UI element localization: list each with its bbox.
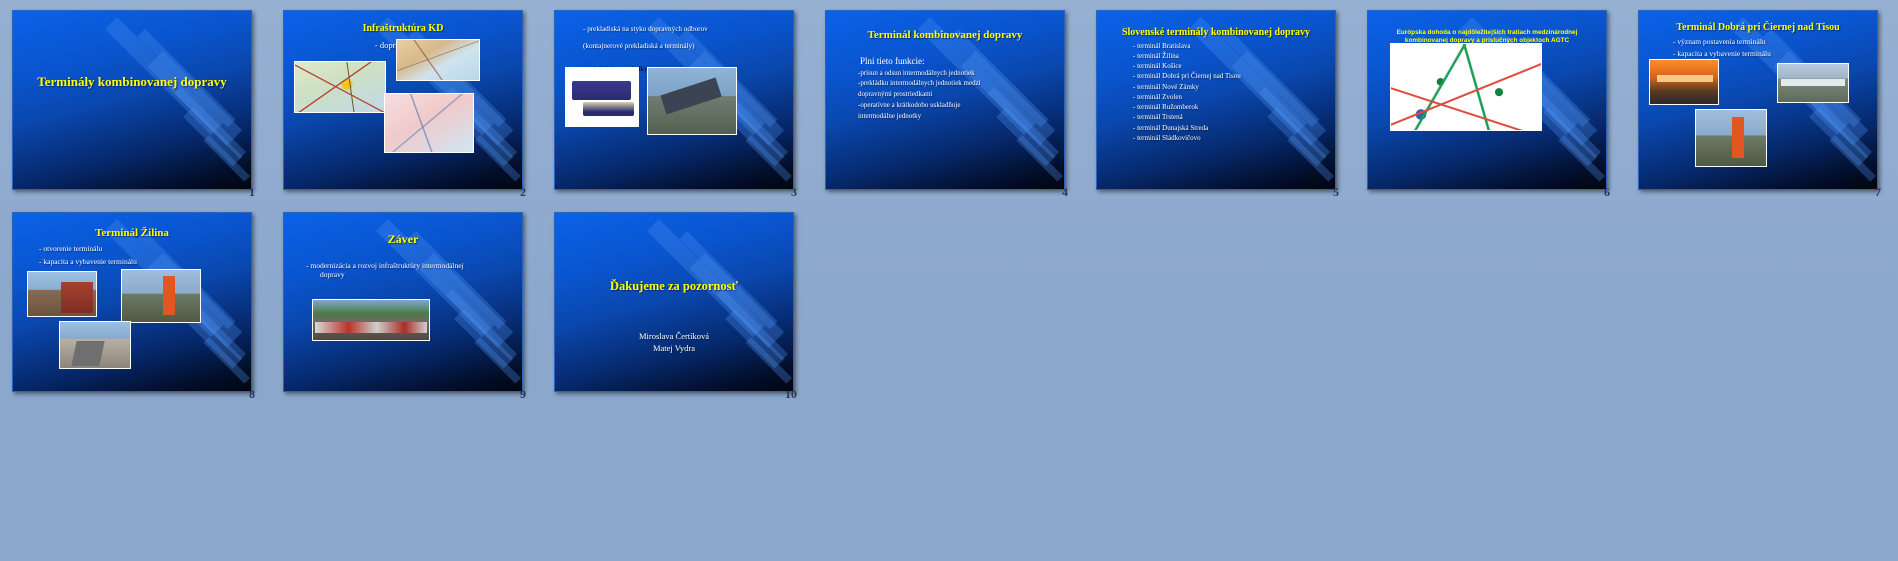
slide-title: Terminál kombinovanej dopravy (834, 29, 1056, 42)
map-slovakia-corridors-image (294, 61, 386, 113)
slide-bullet: - kapacita a vybavenie terminálu (1673, 49, 1869, 58)
slide-cell-10[interactable]: Ďakujeme za pozornosť Miroslava Čertíkov… (542, 202, 813, 404)
slide-bullet: -prekládku intermodálnych jednotiek medz… (858, 79, 1056, 88)
slide-cell-2[interactable]: Infraštruktúra KD - dopravné cesty 2 (271, 0, 542, 202)
slide-bullet: -operatívne a krátkodobo uskladňuje (858, 101, 1056, 110)
slide-title: Terminál Dobrá pri Čiernej nad Tisou (1647, 22, 1869, 34)
photo-terminal-night-image (1649, 59, 1719, 105)
slide-title: Terminály kombinovanej dopravy (21, 75, 243, 90)
map-europe-physical-image (396, 39, 480, 81)
slide-thumbnail-3[interactable]: - prekladiská na styku dopravných odboro… (554, 10, 794, 190)
slide-lead-text: Plní tieto funkcie: (860, 56, 1056, 66)
author-list: Miroslava Čertíková Matej Vydra (563, 331, 785, 355)
slide-cell-5[interactable]: Slovenské terminály kombinovanej dopravy… (1084, 0, 1355, 202)
slide-number: 2 (520, 185, 526, 200)
slide-title: Infraštruktúra KD (292, 23, 514, 35)
slide-cell-4[interactable]: Terminál kombinovanej dopravy Plní tieto… (813, 0, 1084, 202)
slide-number: 10 (785, 387, 797, 402)
slide-title-line-1: Európska dohoda o najdôležitejších trati… (1376, 29, 1598, 37)
slide-thumbnail-6[interactable]: Európska dohoda o najdôležitejších trati… (1367, 10, 1607, 190)
slide-number: 1 (249, 185, 255, 200)
slide-title: Terminál Žilina (21, 227, 243, 240)
slide-number: 5 (1333, 185, 1339, 200)
slide-bullet: intermodálne jednotky (858, 112, 1056, 121)
slide-number: 4 (1062, 185, 1068, 200)
photo-container-stack-image (121, 269, 201, 323)
slide-bullet: - modernizácia a rozvoj infraštruktúry i… (306, 261, 514, 270)
slide-bullet: - terminál Dobrá pri Čiernej nad Tisou (1133, 72, 1327, 81)
slide-grid: Terminály kombinovanej dopravy 1 Infrašt… (0, 0, 1898, 404)
slide-bullet: dopravy (320, 270, 514, 279)
slide-cell-9[interactable]: Záver - modernizácia a rozvoj infraštruk… (271, 202, 542, 404)
slide-thumbnail-10[interactable]: Ďakujeme za pozornosť Miroslava Čertíkov… (554, 212, 794, 392)
slide-bullet: - terminál Žilina (1133, 52, 1327, 61)
slide-body-line-1: - prekladiská na styku dopravných odboro… (583, 25, 781, 34)
photo-container-yard-image (27, 271, 97, 317)
slide-thumbnail-1[interactable]: Terminály kombinovanej dopravy (12, 10, 252, 190)
slide-bullet: - terminál Trstená (1133, 113, 1327, 122)
author-name: Miroslava Čertíková (563, 331, 785, 343)
slide-thumbnail-9[interactable]: Záver - modernizácia a rozvoj infraštruk… (283, 212, 523, 392)
author-name: Matej Vydra (563, 343, 785, 355)
map-agtc-network-image (1390, 43, 1542, 131)
slide-bullet: - kapacita a vybavenie terminálu (39, 257, 243, 266)
slide-number: 6 (1604, 185, 1610, 200)
slide-number: 7 (1875, 185, 1881, 200)
photo-terminal-road-image (59, 321, 131, 369)
slide-cell-7[interactable]: Terminál Dobrá pri Čiernej nad Tisou - v… (1626, 0, 1897, 202)
slide-cell-6[interactable]: Európska dohoda o najdôležitejších trati… (1355, 0, 1626, 202)
slide-thumbnail-8[interactable]: Terminál Žilina - otvorenie terminálu - … (12, 212, 252, 392)
slide-bullet: - terminál Ružomberok (1133, 103, 1327, 112)
slide-cell-8[interactable]: Terminál Žilina - otvorenie terminálu - … (0, 202, 271, 404)
slide-thumbnail-5[interactable]: Slovenské terminály kombinovanej dopravy… (1096, 10, 1336, 190)
slide-number: 8 (249, 387, 255, 402)
slide-title: Záver (292, 233, 514, 247)
slide-bullet: - terminál Bratislava (1133, 42, 1327, 51)
slide-bullet: - terminál Zvolen (1133, 93, 1327, 102)
photo-swap-body-wagon-image (565, 67, 639, 127)
slide-bullet: - terminál Košice (1133, 62, 1327, 71)
slide-bullet: - otvorenie terminálu (39, 244, 243, 253)
photo-terminal-day-image (1777, 63, 1849, 103)
slide-title: Slovenské terminály kombinovanej dopravy (1105, 25, 1327, 40)
slide-cell-3[interactable]: - prekladiská na styku dopravných odboro… (542, 0, 813, 202)
slide-body-line-2: (kontajnerové prekladiská a terminály) (583, 42, 781, 51)
photo-reachstacker-image (1695, 109, 1767, 167)
presentation-thumbnail-workspace: Terminály kombinovanej dopravy 1 Infrašt… (0, 0, 1898, 561)
slide-thumbnail-4[interactable]: Terminál kombinovanej dopravy Plní tieto… (825, 10, 1065, 190)
photo-freight-train-image (312, 299, 430, 341)
slide-bullet: - terminál Dunajská Streda (1133, 124, 1327, 133)
slide-bullet: - terminál Nové Zámky (1133, 83, 1327, 92)
slide-bullet: - terminál Sládkovičovo (1133, 134, 1327, 143)
slide-bullet: - význam postavenia terminálu (1673, 37, 1869, 46)
slide-title: Ďakujeme za pozornosť (563, 279, 785, 293)
slide-thumbnail-2[interactable]: Infraštruktúra KD - dopravné cesty (283, 10, 523, 190)
slide-number: 3 (791, 185, 797, 200)
map-europe-political-image (384, 93, 474, 153)
slide-bullet: -prísun a odsun intermodálnych jednotiek (858, 69, 1056, 78)
photo-container-handler-image (647, 67, 737, 135)
slide-cell-1[interactable]: Terminály kombinovanej dopravy 1 (0, 0, 271, 202)
slide-thumbnail-7[interactable]: Terminál Dobrá pri Čiernej nad Tisou - v… (1638, 10, 1878, 190)
slide-bullet: dopravnými prostriedkami (858, 90, 1056, 99)
slide-number: 9 (520, 387, 526, 402)
